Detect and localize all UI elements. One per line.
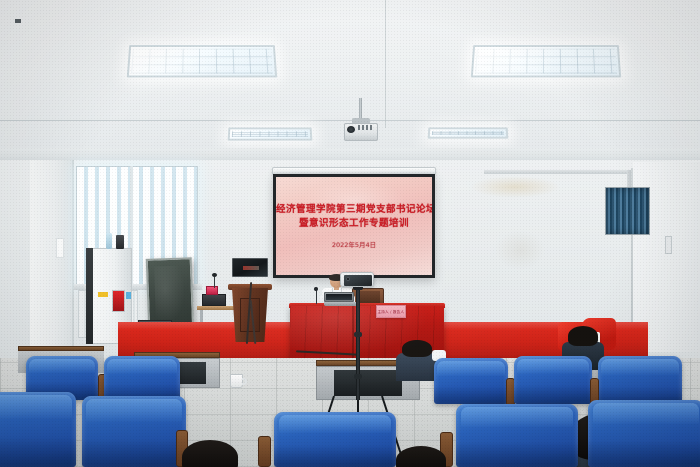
audio-amplifier	[202, 294, 226, 306]
seat-top-band	[593, 403, 700, 424]
ceiling-light-panel-front-right	[471, 45, 621, 77]
desk-center-shelf	[334, 370, 402, 396]
table-name-card: 主持人 / 报告人	[376, 305, 406, 318]
left-wall-column	[30, 160, 74, 360]
ceiling-light-panel-back-right	[428, 127, 509, 138]
table-microphone-stem	[214, 276, 215, 288]
slide-title-line1: 经济管理学院第三期党支部书记论坛	[276, 201, 432, 215]
seat-top-band	[517, 359, 589, 374]
light-glare	[129, 47, 275, 76]
smartphone-recorder[interactable]	[340, 272, 374, 287]
column-edge	[72, 160, 74, 360]
chalk-residue	[154, 265, 186, 324]
presenter-mic-stem	[316, 290, 317, 304]
phone-camera-icon	[346, 277, 350, 281]
audience-person-bottom-center	[392, 446, 450, 467]
cabinet-control-panel	[112, 290, 125, 312]
cabinet-label-yellow	[98, 292, 108, 297]
light-grid	[232, 131, 308, 137]
seat-far-3	[434, 358, 508, 404]
seat-top-band	[601, 359, 678, 375]
tripod-lock-knob-lower[interactable]	[354, 374, 362, 379]
light-grid	[432, 131, 504, 135]
seat-top-band	[0, 395, 72, 419]
wall-conduit-pipe	[484, 170, 634, 174]
seat-far-4	[514, 356, 592, 404]
seat-near-4	[456, 404, 578, 467]
cabinet-side-strip	[86, 248, 93, 344]
seat-shadow	[514, 385, 592, 404]
slide-title-line2: 暨意识形态工作专题培训	[276, 215, 432, 229]
seat-top-band	[437, 361, 505, 376]
cabinet-label-blue	[126, 292, 131, 299]
seat-shadow	[456, 442, 578, 467]
projection-screen-frame: 经济管理学院第三期党支部书记论坛 暨意识形态工作专题培训 2022年5月4日	[273, 174, 435, 278]
seat-top-band	[107, 359, 177, 374]
seat-shadow	[82, 439, 186, 467]
light-glare	[473, 47, 619, 76]
ceiling-light-panel-front-left	[127, 45, 277, 77]
projector-lens-icon	[347, 126, 355, 133]
lecture-hall-photo: 经济管理学院第三期党支部书记论坛 暨意识形态工作专题培训 2022年5月4日	[0, 0, 700, 467]
person-hair	[568, 326, 598, 346]
wall-stain	[470, 176, 560, 198]
seat-top-band	[461, 407, 573, 427]
light-switch[interactable]	[665, 236, 672, 254]
monitor-logo	[243, 266, 259, 270]
person-hair	[182, 440, 238, 467]
ceiling-seam	[0, 120, 700, 121]
seat-shadow	[274, 445, 396, 467]
slide-date: 2022年5月4日	[276, 239, 432, 249]
wall-vent-grille	[605, 187, 650, 235]
ceiling-light-panel-back-left	[228, 127, 313, 140]
wall-stain-2	[495, 230, 545, 270]
monitor-stand	[15, 19, 21, 23]
seat-near-2	[82, 396, 186, 467]
projector-vents	[358, 125, 374, 130]
name-card-text: 主持人 / 报告人	[378, 309, 405, 314]
water-bottle	[106, 233, 112, 249]
seat-near-1	[0, 392, 76, 467]
seat-shadow	[0, 437, 76, 467]
seat-near-5	[588, 400, 700, 467]
seat-near-3	[274, 412, 396, 467]
tripod-lock-knob-upper[interactable]	[354, 332, 362, 337]
presenter-laptop[interactable]	[324, 292, 354, 305]
seat-far-5	[598, 356, 682, 406]
seat-top-band	[29, 359, 95, 373]
seat-top-band	[86, 399, 182, 422]
container-can	[116, 235, 124, 249]
table-microphone-head-icon	[212, 273, 217, 277]
tripod-center-pole	[356, 282, 360, 400]
laptop-screen	[326, 294, 352, 300]
ceiling-seam-vertical	[385, 0, 386, 128]
person-hair	[402, 340, 432, 357]
podium-monitor	[232, 258, 268, 280]
person-hair	[396, 446, 446, 467]
armrest-near-3	[258, 436, 271, 467]
laptop-base	[324, 302, 358, 306]
seat-top-band	[279, 415, 391, 433]
presenter-mic-head-icon	[314, 287, 318, 291]
projection-screen-surface: 经济管理学院第三期党支部书记论坛 暨意识形态工作专题培训 2022年5月4日	[276, 177, 432, 275]
red-equipment-box	[206, 286, 218, 295]
monitor-screen	[232, 258, 268, 277]
seat-shadow	[588, 440, 700, 467]
audience-person-bottom-left	[176, 440, 246, 467]
laptop-lid	[324, 292, 354, 302]
wall-notice-paper	[56, 238, 64, 258]
seat-shadow	[434, 386, 508, 404]
